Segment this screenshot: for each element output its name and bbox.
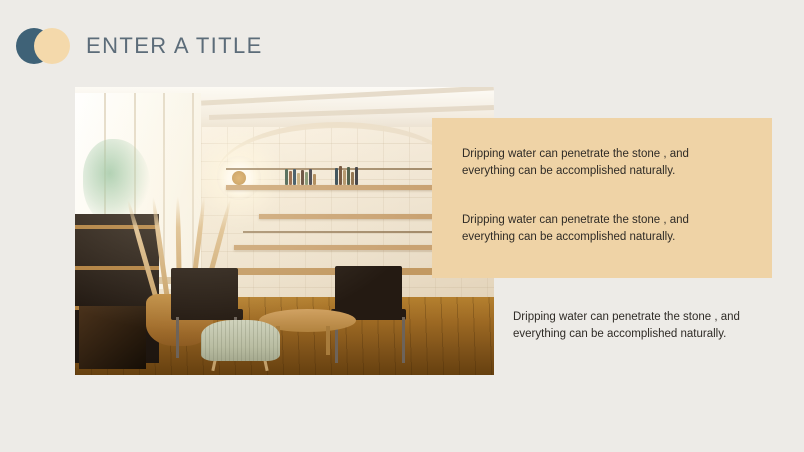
photo-shelf (259, 214, 460, 219)
photo-shelf-rail (243, 231, 453, 233)
photo-chair-leg (402, 317, 405, 363)
photo-chair-left (171, 268, 238, 314)
photo-books (285, 168, 316, 185)
text-panel: Dripping water can penetrate the stone ,… (432, 118, 772, 278)
photo-ottoman-texture (201, 320, 281, 360)
photo-picture-frame (79, 306, 146, 369)
photo-chair-right (335, 266, 402, 315)
photo-books (335, 165, 358, 185)
photo-chair-left-seat (171, 309, 242, 321)
photo-shelf (234, 245, 460, 250)
logo-circle-tan-icon (34, 28, 70, 64)
slide-canvas: ENTER A TITLE (0, 0, 804, 452)
logo (16, 26, 72, 66)
photo-shelf-unit-rail (75, 225, 159, 229)
panel-paragraph-2: Dripping water can penetrate the stone ,… (462, 212, 732, 245)
slide-header: ENTER A TITLE (16, 26, 263, 66)
caption-paragraph: Dripping water can penetrate the stone ,… (513, 309, 785, 342)
panel-paragraph-1: Dripping water can penetrate the stone ,… (462, 146, 732, 179)
photo-table-leg (326, 326, 330, 355)
photo-chair-leg (176, 317, 179, 357)
page-title: ENTER A TITLE (86, 35, 263, 57)
photo-shelf (226, 185, 461, 190)
